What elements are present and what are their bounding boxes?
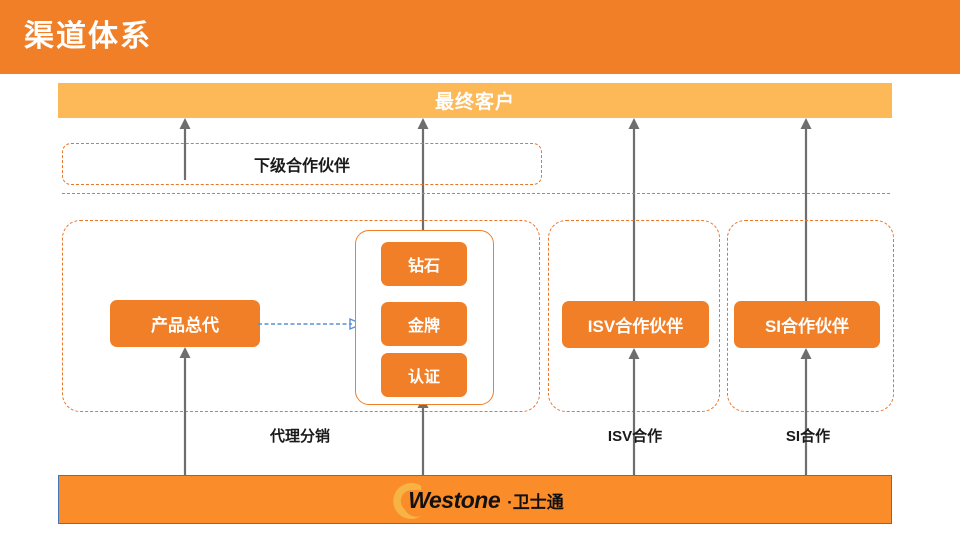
westone-logo-text: Westone ·卫士通 — [386, 487, 564, 514]
end-customer-label: 最终客户 — [435, 87, 515, 114]
box-tier-gold-label: 金牌 — [408, 312, 440, 336]
page-title: 渠道体系 — [24, 16, 152, 58]
flow-arrow-westone-to-isv — [627, 348, 641, 475]
sub-partner-label: 下级合作伙伴 — [254, 152, 350, 176]
label-isv-cooperation: ISV合作 — [560, 425, 710, 446]
flow-arrow-westone-to-agent — [178, 347, 192, 475]
box-tier-certified[interactable]: 认证 — [381, 353, 467, 397]
westone-footer-bar: Westone ·卫士通 — [58, 475, 892, 524]
westone-logo: Westone ·卫士通 — [386, 476, 564, 524]
box-tier-certified-label: 认证 — [408, 363, 440, 387]
box-product-agent[interactable]: 产品总代 — [110, 300, 260, 347]
box-si-partner-label: SI合作伙伴 — [765, 312, 849, 337]
box-isv-partner[interactable]: ISV合作伙伴 — [562, 301, 709, 348]
flow-arrow-westone-to-tiers — [416, 397, 430, 475]
end-customer-bar: 最终客户 — [58, 83, 892, 118]
box-si-partner[interactable]: SI合作伙伴 — [734, 301, 880, 348]
sub-partner-region: 下级合作伙伴 — [62, 143, 542, 185]
box-isv-partner-label: ISV合作伙伴 — [588, 312, 683, 337]
box-tier-diamond-label: 钻石 — [408, 252, 440, 276]
region-divider — [62, 193, 890, 194]
westone-wordmark: Westone — [408, 487, 500, 514]
connector-agent-to-tiers — [258, 314, 362, 334]
westone-chinese-name: ·卫士通 — [507, 488, 564, 513]
box-product-agent-label: 产品总代 — [151, 311, 219, 336]
flow-arrow-westone-to-si — [799, 348, 813, 475]
box-tier-diamond[interactable]: 钻石 — [381, 242, 467, 286]
label-si-cooperation: SI合作 — [733, 425, 883, 446]
box-tier-gold[interactable]: 金牌 — [381, 302, 467, 346]
slide-canvas: 渠道体系 最终客户 下级合作伙伴 — [0, 0, 960, 540]
label-agency-distribution: 代理分销 — [220, 425, 380, 446]
